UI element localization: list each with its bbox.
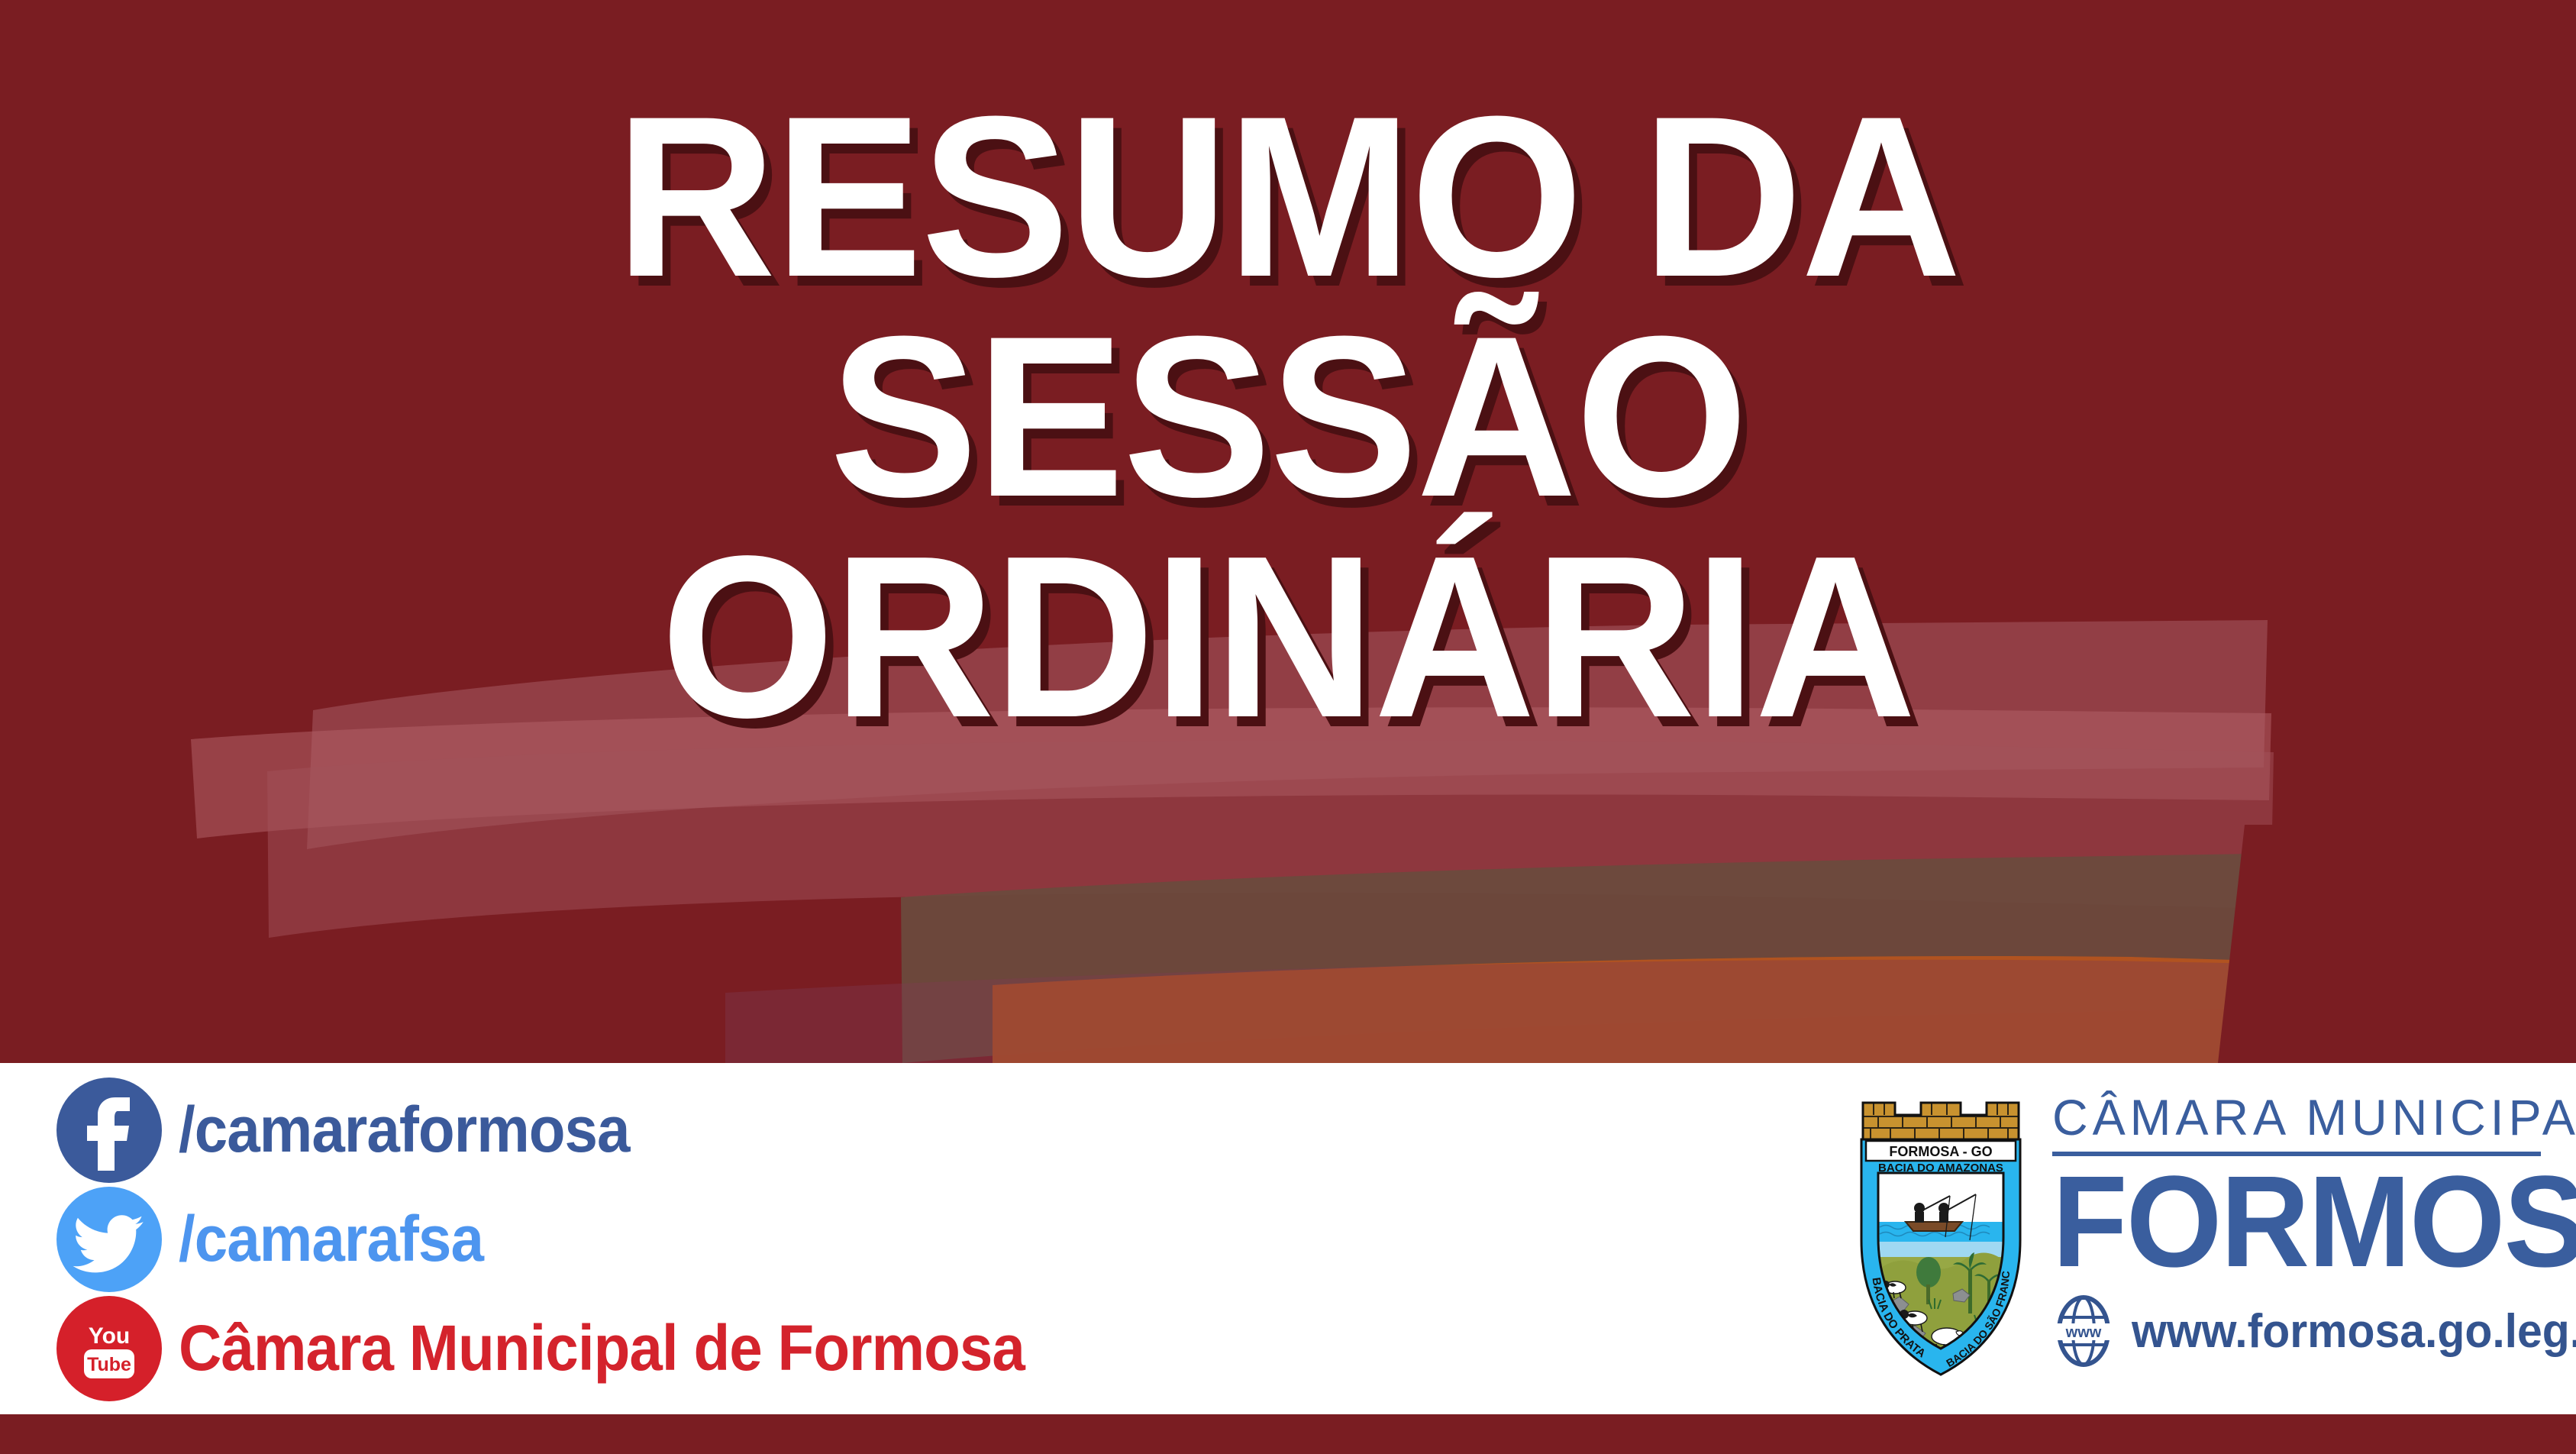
website-row[interactable]: www www.formosa.go.leg.br (2052, 1294, 2541, 1368)
crest-city-label: FORMOSA - GO (1889, 1144, 1992, 1159)
youtube-channel-name[interactable]: Câmara Municipal de Formosa (179, 1311, 1025, 1385)
social-row-twitter[interactable]: /camarafsa (56, 1184, 1202, 1294)
svg-text:You: You (89, 1323, 130, 1349)
brand-line-formosa: FORMOSA (2052, 1161, 2516, 1284)
hero-banner: RESUMO DA SESSÃO ORDINÁRIA (0, 0, 2576, 1063)
coat-of-arms-icon: FORMOSA - GO BACIA DO AMAZONAS (1855, 1080, 2026, 1379)
www-globe-icon: www (2052, 1294, 2115, 1368)
twitter-handle[interactable]: /camarafsa (179, 1202, 483, 1276)
bottom-accent-bar (0, 1414, 2576, 1454)
brand-text-block: CÂMARA MUNICIPAL FORMOSA www www.formosa… (2052, 1091, 2541, 1368)
title-line-2: SESSÃO (829, 304, 1746, 528)
facebook-icon[interactable] (56, 1078, 162, 1183)
title-line-1: RESUMO DA (616, 84, 1961, 309)
brand-lockup: FORMOSA - GO BACIA DO AMAZONAS (1855, 1080, 2541, 1379)
social-row-facebook[interactable]: /camaraformosa (56, 1075, 1202, 1184)
social-row-youtube[interactable]: You Tube Câmara Municipal de Formosa (56, 1294, 1202, 1403)
facebook-handle[interactable]: /camaraformosa (179, 1093, 630, 1167)
brand-line-camara-municipal: CÂMARA MUNICIPAL (2052, 1091, 2531, 1144)
website-url[interactable]: www.formosa.go.leg.br (2132, 1304, 2576, 1359)
footer-bar: /camaraformosa /camarafsa You Tube (0, 1063, 2576, 1414)
youtube-icon[interactable]: You Tube (56, 1296, 162, 1401)
title-line-3: ORDINÁRIA (661, 524, 1915, 750)
twitter-icon[interactable] (56, 1187, 162, 1292)
social-links-list: /camaraformosa /camarafsa You Tube (56, 1075, 1202, 1404)
svg-text:www: www (2065, 1324, 2102, 1341)
svg-text:Tube: Tube (87, 1354, 131, 1375)
page-title: RESUMO DA SESSÃO ORDINÁRIA (0, 0, 2576, 1063)
